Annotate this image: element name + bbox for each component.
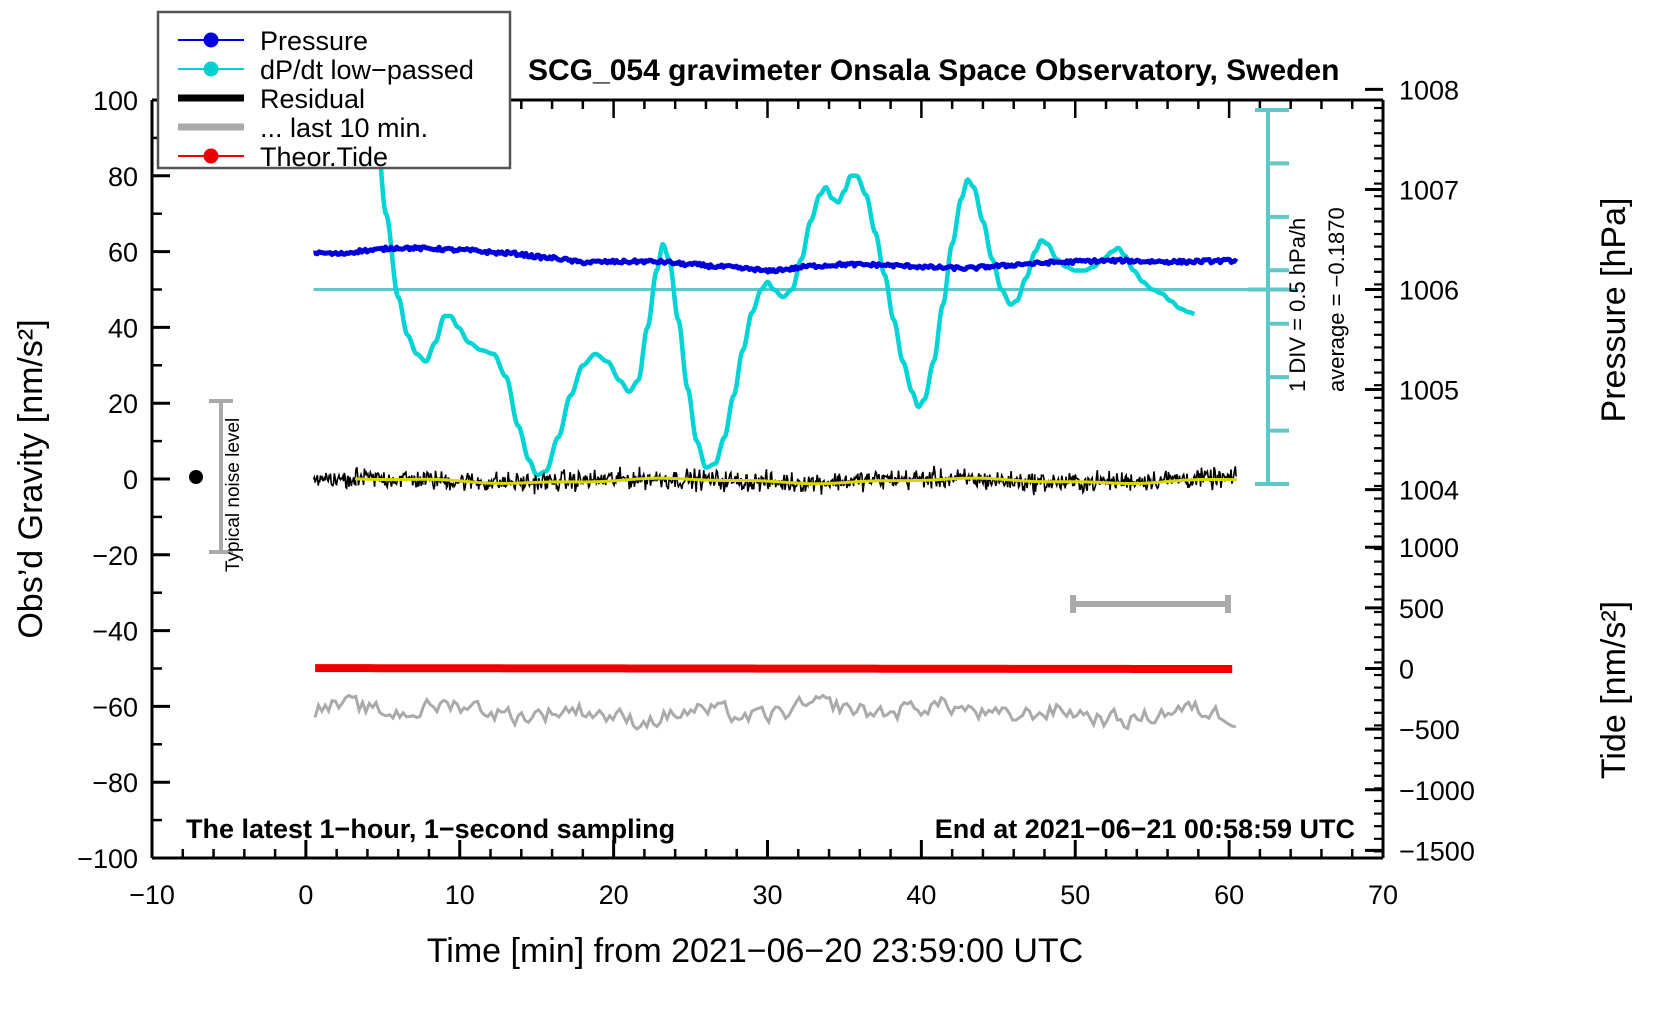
x-tick-label: 60 [1214,880,1244,910]
chart-page: 100806040200−20−40−60−80−100 −1001020304… [0,0,1660,1020]
y-tick-label: −60 [92,692,138,722]
legend-label: ... last 10 min. [260,113,428,143]
average-label: average = −0.1870 [1324,207,1349,392]
legend-label: dP/dt low−passed [260,55,474,85]
dpdt-scale-bar: 1 DIV = 0.5 hPa/h average = −0.1870 [1248,110,1349,484]
y-axis-right-tick-labels: 1008100710061005100410005000−500−1000−15… [1399,75,1475,866]
y-tick-label: 40 [108,313,138,343]
x-tick-label: 40 [906,880,936,910]
x-tick-label: 0 [298,880,313,910]
tide-tick-label: −500 [1399,715,1460,745]
x-axis-title: Time [min] from 2021−06−20 23:59:00 UTC [427,932,1083,970]
y-axis-right-pressure-title: Pressure [hPa] [1595,198,1633,423]
tide-tick-label: −1000 [1399,776,1475,806]
bottom-left-note: The latest 1−hour, 1−second sampling [186,814,675,844]
y-tick-label: −80 [92,768,138,798]
y-axis-left-tick-labels: 100806040200−20−40−60−80−100 [77,86,138,874]
y-axis-left-title: Obs’d Gravity [nm/s²] [12,319,50,638]
legend-marker-dot [204,33,219,48]
chart-title: SCG_054 gravimeter Onsala Space Observat… [528,54,1340,87]
pressure-tick-label: 1005 [1399,376,1459,406]
data-traces [314,100,1299,729]
pressure-tick-label: 1008 [1399,75,1459,105]
tide-tick-label: 1000 [1399,533,1459,563]
y-axis-right-ticks [1365,89,1383,851]
typical-noise-level-label: Typical noise level [223,418,244,572]
pressure-trace [314,247,1237,273]
legend[interactable]: PressuredP/dt low−passedResidual... last… [158,12,510,172]
tide-tick-label: −1500 [1399,836,1475,866]
last-10-min-indicator [1073,595,1228,613]
x-tick-label: 70 [1368,880,1398,910]
y-tick-label: −40 [92,617,138,647]
legend-label: Theor.Tide [260,142,388,172]
theoretical-tide-trace [315,668,1232,669]
bottom-right-note: End at 2021−06−21 00:58:59 UTC [935,814,1355,844]
y-tick-label: −100 [77,844,138,874]
legend-label: Residual [260,84,365,114]
pressure-tick-label: 1004 [1399,476,1459,506]
x-tick-label: −10 [129,880,175,910]
legend-marker-dot [204,62,219,77]
typical-noise-level-marker: Typical noise level [189,401,244,572]
y-axis-right-tide-title: Tide [nm/s²] [1595,601,1633,779]
pressure-tick-label: 1006 [1399,276,1459,306]
y-tick-label: 0 [123,465,138,495]
y-tick-label: 100 [93,86,138,116]
y-tick-label: 20 [108,389,138,419]
legend-marker-dot [204,149,219,164]
x-tick-label: 50 [1060,880,1090,910]
pressure-tick-label: 1007 [1399,175,1459,205]
x-tick-label: 20 [599,880,629,910]
y-tick-label: 60 [108,238,138,268]
tide-tick-label: 500 [1399,594,1444,624]
last-10-min-trace [315,695,1236,728]
y-tick-label: −20 [92,541,138,571]
legend-label: Pressure [260,26,368,56]
tide-tick-label: 0 [1399,655,1414,685]
y-axis-left-ticks [152,100,170,858]
x-axis-tick-labels: −10010203040506070 [129,880,1398,910]
x-tick-label: 10 [445,880,475,910]
gravimeter-timeseries-chart: 100806040200−20−40−60−80−100 −1001020304… [0,0,1660,1020]
y-tick-label: 80 [108,162,138,192]
x-tick-label: 30 [752,880,782,910]
scale-div-label: 1 DIV = 0.5 hPa/h [1285,218,1310,392]
